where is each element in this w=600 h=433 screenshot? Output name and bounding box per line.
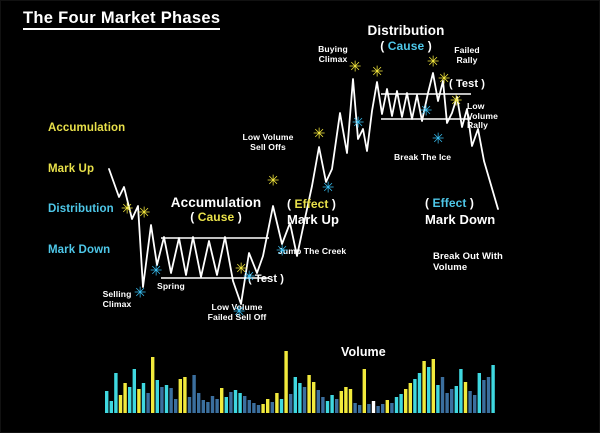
- annotation-failed-rally: Failed Rally: [444, 46, 490, 65]
- volume-bar: [151, 357, 154, 413]
- volume-bar: [202, 400, 205, 413]
- paren-close: ): [424, 39, 432, 53]
- legend: Accumulation Mark Up Distribution Mark D…: [48, 95, 125, 284]
- volume-bar: [252, 403, 255, 413]
- volume-bar: [284, 351, 287, 413]
- volume-bar: [128, 387, 131, 413]
- annotation-low-volume-rally: Low Volume Rally: [467, 102, 498, 131]
- volume-bar: [381, 404, 384, 413]
- volume-bar: [399, 394, 402, 413]
- volume-bar: [266, 399, 269, 413]
- volume-bar: [367, 404, 370, 413]
- volume-bar: [156, 380, 159, 413]
- volume-bar: [192, 375, 195, 413]
- phase-label-mark-up: Mark Up: [287, 213, 339, 228]
- volume-bar: [261, 404, 264, 413]
- volume-bar: [197, 393, 200, 413]
- volume-bar: [183, 377, 186, 413]
- volume-bar: [238, 393, 241, 413]
- volume-bar: [289, 394, 292, 413]
- volume-bar: [220, 388, 223, 413]
- volume-bar: [215, 399, 218, 413]
- volume-bars-group: [105, 351, 495, 413]
- legend-item-accumulation: Accumulation: [48, 122, 125, 136]
- volume-bar: [119, 395, 122, 413]
- cause-word: Cause: [388, 39, 425, 53]
- volume-bar: [473, 395, 476, 413]
- volume-chart-title: Volume: [341, 345, 386, 359]
- volume-bar: [298, 383, 301, 413]
- annotation-jump-the-creek: Jump The Creek: [278, 247, 346, 257]
- volume-bar: [482, 380, 485, 413]
- volume-bar: [409, 383, 412, 413]
- volume-bar: [478, 373, 481, 413]
- volume-bar: [436, 385, 439, 413]
- volume-bar: [330, 395, 333, 413]
- phase-sublabel-markdown-effect: ( Effect ): [425, 197, 515, 210]
- effect-word: Effect: [433, 196, 467, 210]
- volume-bar: [211, 396, 214, 413]
- annotation-spring: Spring: [157, 282, 185, 292]
- volume-bar: [413, 379, 416, 413]
- volume-bar: [464, 382, 467, 413]
- volume-bar: [487, 377, 490, 413]
- paren-close: ): [466, 196, 474, 210]
- volume-bar: [271, 402, 274, 413]
- volume-bar: [307, 375, 310, 413]
- volume-bar: [257, 405, 260, 413]
- volume-bar: [179, 379, 182, 413]
- volume-bar: [234, 390, 237, 413]
- paren-open: (: [287, 197, 295, 211]
- volume-bar: [349, 389, 352, 413]
- phase-sublabel-markup-effect: ( Effect ): [287, 198, 367, 211]
- volume-bar: [358, 405, 361, 413]
- volume-bar: [114, 373, 117, 413]
- volume-bar: [110, 401, 113, 413]
- volume-bar: [133, 369, 136, 413]
- volume-bar: [468, 391, 471, 413]
- effect-word: Effect: [295, 197, 329, 211]
- volume-bar: [312, 382, 315, 413]
- phase-label-accumulation: Accumulation: [161, 195, 271, 210]
- paren-open: (: [425, 196, 433, 210]
- volume-bar: [386, 400, 389, 413]
- volume-bar: [243, 396, 246, 413]
- volume-bar: [326, 401, 329, 413]
- volume-bar: [123, 383, 126, 413]
- volume-bar: [459, 369, 462, 413]
- diagram-canvas: The Four Market Phases Accumulation Mark…: [0, 0, 600, 433]
- paren-close: ): [234, 210, 242, 224]
- volume-bar: [146, 393, 149, 413]
- volume-bar: [206, 402, 209, 413]
- volume-bar: [422, 361, 425, 413]
- volume-bar: [160, 387, 163, 413]
- volume-bar: [395, 397, 398, 413]
- legend-item-mark-up: Mark Up: [48, 163, 125, 177]
- volume-bar: [169, 388, 172, 413]
- legend-item-distribution: Distribution: [48, 203, 125, 217]
- volume-bar: [275, 393, 278, 413]
- volume-bar: [353, 403, 356, 413]
- volume-bar: [427, 367, 430, 413]
- paren-open: (: [190, 210, 198, 224]
- volume-bar: [142, 383, 145, 413]
- volume-bar: [390, 403, 393, 413]
- volume-bar: [363, 369, 366, 413]
- annotation-low-volume-sell-offs: Low Volume Sell Offs: [233, 133, 303, 152]
- annotation-break-the-ice: Break The Ice: [394, 153, 451, 163]
- volume-bar: [174, 399, 177, 413]
- volume-bar: [165, 385, 168, 413]
- volume-bar: [491, 365, 494, 413]
- volume-bar: [432, 359, 435, 413]
- volume-bar: [450, 389, 453, 413]
- volume-bar: [340, 391, 343, 413]
- paren-open: (: [380, 39, 388, 53]
- volume-bar: [418, 373, 421, 413]
- paren-close: ): [328, 197, 336, 211]
- volume-bar: [105, 391, 108, 413]
- phase-label-distribution: Distribution: [351, 23, 461, 38]
- volume-bar: [344, 387, 347, 413]
- volume-bar: [303, 387, 306, 413]
- volume-bar: [372, 401, 375, 413]
- cause-word: Cause: [198, 210, 235, 224]
- volume-bar: [188, 397, 191, 413]
- annotation-accumulation-test: ( Test ): [248, 273, 284, 285]
- volume-bar: [229, 392, 232, 413]
- annotation-selling-climax: Selling Climax: [87, 290, 147, 309]
- volume-bar: [294, 377, 297, 413]
- page-title: The Four Market Phases: [23, 9, 220, 30]
- annotation-buying-climax: Buying Climax: [309, 45, 357, 64]
- volume-bar: [404, 389, 407, 413]
- volume-bar: [445, 393, 448, 413]
- volume-bar: [225, 397, 228, 413]
- volume-bar: [248, 400, 251, 413]
- annotation-low-volume-failed-sell-off: Low Volume Failed Sell Off: [187, 303, 287, 322]
- phase-label-mark-down: Mark Down: [425, 213, 495, 228]
- volume-bar: [321, 397, 324, 413]
- volume-bar: [441, 377, 444, 413]
- volume-bar: [280, 399, 283, 413]
- volume-bar: [376, 406, 379, 413]
- volume-bar: [455, 386, 458, 413]
- legend-item-mark-down: Mark Down: [48, 244, 125, 258]
- annotation-distribution-test: ( Test ): [449, 78, 485, 90]
- volume-bar: [335, 399, 338, 413]
- annotation-break-out-with-volume: Break Out With Volume: [433, 252, 503, 273]
- phase-sublabel-accumulation-cause: ( Cause ): [161, 211, 271, 224]
- volume-bar: [137, 389, 140, 413]
- volume-bar: [317, 390, 320, 413]
